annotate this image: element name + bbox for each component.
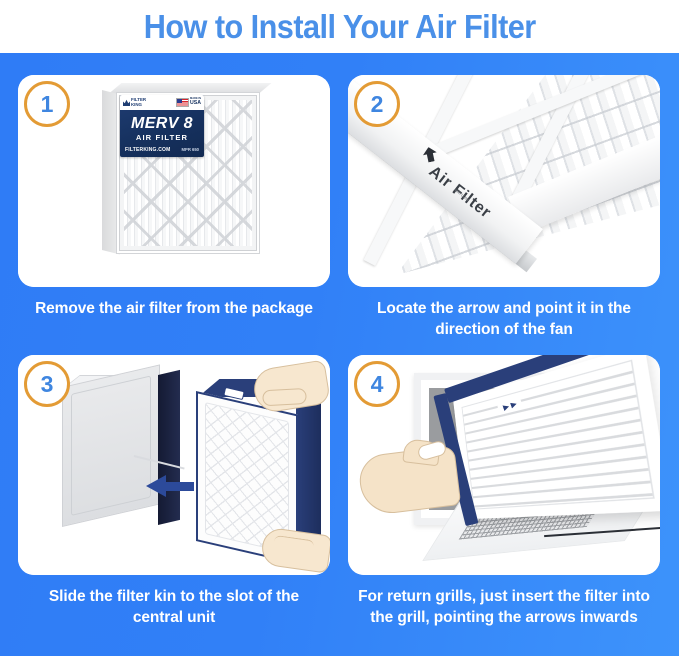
hand-inserting-filter [357, 445, 462, 516]
step-2: 2 Air Filter [348, 75, 660, 341]
unit-front-face [62, 364, 160, 527]
step-4-card: 4 [348, 355, 660, 575]
step-1-caption: Remove the air filter from the package [18, 298, 330, 319]
arrow-head [146, 475, 166, 497]
made-in-usa-text: MADE IN USA [190, 98, 201, 106]
brand-line-2: KING [131, 103, 146, 108]
held-filter-side-edge [296, 391, 321, 543]
mpr-text: MPR 650 [182, 147, 199, 153]
step-3: 3 [18, 355, 330, 629]
step-1-card: 1 [18, 75, 330, 287]
website-text: FILTERKING.COM [125, 147, 170, 153]
crown-icon [123, 99, 130, 106]
unit-filter-slot [158, 370, 180, 525]
country-label: USA [190, 101, 201, 106]
step-4-badge: 4 [354, 361, 400, 407]
step-4-caption: For return grills, just insert the filte… [348, 586, 660, 629]
step-2-badge: 2 [354, 81, 400, 127]
step-2-caption: Locate the arrow and point it in the dir… [348, 298, 660, 341]
product-label: FILTER KING MADE IN USA [120, 95, 204, 157]
step-1: 1 [18, 75, 330, 319]
brand-text: FILTER KING [131, 98, 146, 107]
header: How to Install Your Air Filter [0, 0, 679, 53]
filter-arrows-icon [497, 397, 523, 414]
steps-board: 1 [0, 53, 679, 656]
made-in-usa-badge: MADE IN USA [176, 98, 201, 107]
step-2-card: 2 Air Filter [348, 75, 660, 287]
filter-product: FILTER KING MADE IN USA [102, 83, 262, 255]
inserted-filter [444, 389, 594, 539]
filter-king-logo: FILTER KING [123, 98, 146, 107]
hand-bottom [260, 526, 330, 573]
step-4: 4 [348, 355, 660, 629]
step-3-badge: 3 [24, 361, 70, 407]
step-1-badge: 1 [24, 81, 70, 127]
infographic-root: How to Install Your Air Filter 1 [0, 0, 679, 656]
usa-flag-icon [176, 98, 189, 107]
air-filter-subtitle: AIR FILTER [120, 133, 204, 142]
label-bottom-strip: FILTERKING.COM MPR 650 [120, 147, 204, 153]
step-3-card: 3 [18, 355, 330, 575]
steps-grid: 1 [0, 53, 679, 656]
step-3-caption: Slide the filter kin to the slot of the … [18, 586, 330, 629]
slide-direction-arrow-icon [146, 475, 194, 497]
merv-rating: MERV 8 [120, 115, 204, 133]
label-top-strip: FILTER KING MADE IN USA [120, 95, 204, 110]
arrow-shaft [164, 482, 194, 491]
page-title: How to Install Your Air Filter [144, 8, 536, 46]
